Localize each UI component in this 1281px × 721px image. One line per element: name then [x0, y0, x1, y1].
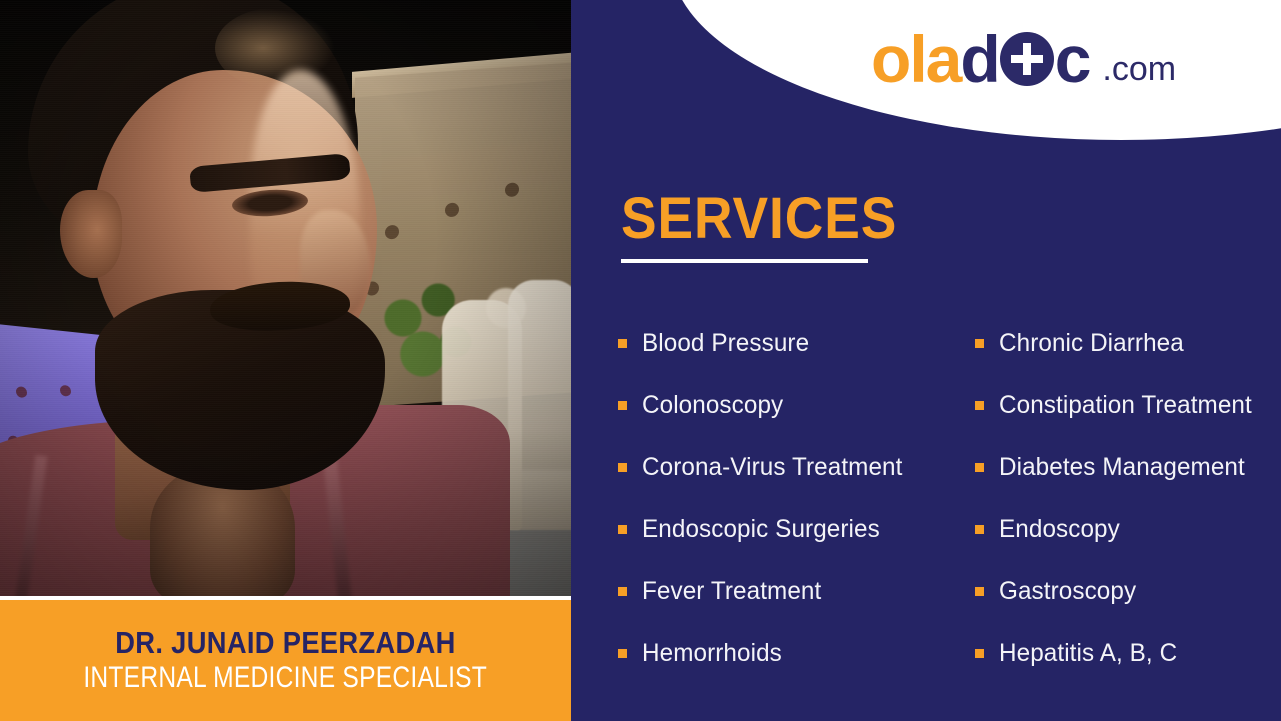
logo-text-d: d — [960, 26, 998, 92]
bullet-square-icon — [975, 339, 984, 348]
service-label: Fever Treatment — [642, 577, 821, 606]
doctor-specialty: INTERNAL MEDICINE SPECIALIST — [84, 661, 488, 694]
services-heading-underline — [621, 259, 868, 263]
list-item[interactable]: Constipation Treatment — [975, 374, 1281, 436]
service-label: Corona-Virus Treatment — [642, 453, 902, 482]
list-item[interactable]: Endoscopic Surgeries — [618, 498, 926, 560]
bullet-square-icon — [975, 463, 984, 472]
bullet-square-icon — [618, 339, 627, 348]
list-item[interactable]: Hemorrhoids — [618, 622, 926, 684]
list-item[interactable]: Blood Pressure — [618, 312, 926, 374]
logo-text-ola: ola — [871, 26, 960, 92]
service-label: Constipation Treatment — [999, 391, 1252, 420]
list-item[interactable]: Diabetes Management — [975, 436, 1281, 498]
service-label: Colonoscopy — [642, 391, 783, 420]
services-column-left: Blood Pressure Colonoscopy Corona-Virus … — [571, 312, 926, 684]
services-panel: ola d c .com SERVICES Blood Pressure Col… — [571, 0, 1281, 721]
list-item[interactable]: Chronic Diarrhea — [975, 312, 1281, 374]
bullet-square-icon — [618, 525, 627, 534]
bullet-square-icon — [618, 401, 627, 410]
list-item[interactable]: Fever Treatment — [618, 560, 926, 622]
services-heading: SERVICES — [621, 190, 897, 248]
bullet-square-icon — [975, 649, 984, 658]
bullet-square-icon — [618, 649, 627, 658]
plus-horizontal — [1011, 55, 1043, 63]
service-label: Chronic Diarrhea — [999, 329, 1184, 358]
bullet-square-icon — [618, 463, 627, 472]
doctor-name: DR. JUNAID PEERZADAH — [115, 627, 455, 660]
list-item[interactable]: Hepatitis A, B, C — [975, 622, 1281, 684]
oladoc-logo[interactable]: ola d c .com — [871, 26, 1176, 92]
doctor-services-card: DR. JUNAID PEERZADAH INTERNAL MEDICINE S… — [0, 0, 1281, 721]
service-label: Diabetes Management — [999, 453, 1245, 482]
services-column-right: Chronic Diarrhea Constipation Treatment … — [926, 312, 1281, 684]
service-label: Hemorrhoids — [642, 639, 782, 668]
service-label: Gastroscopy — [999, 577, 1136, 606]
logo-text-c: c — [1055, 26, 1090, 92]
bullet-square-icon — [975, 525, 984, 534]
bullet-square-icon — [975, 587, 984, 596]
doctor-photo — [0, 0, 571, 598]
service-label: Endoscopic Surgeries — [642, 515, 880, 544]
bullet-square-icon — [975, 401, 984, 410]
logo-text-com: .com — [1102, 52, 1176, 92]
plus-in-circle-icon — [1000, 32, 1054, 86]
list-item[interactable]: Colonoscopy — [618, 374, 926, 436]
photo-grain — [0, 0, 571, 598]
service-label: Endoscopy — [999, 515, 1120, 544]
service-label: Blood Pressure — [642, 329, 809, 358]
doctor-name-bar: DR. JUNAID PEERZADAH INTERNAL MEDICINE S… — [0, 600, 571, 721]
list-item[interactable]: Gastroscopy — [975, 560, 1281, 622]
services-list: Blood Pressure Colonoscopy Corona-Virus … — [571, 312, 1281, 684]
service-label: Hepatitis A, B, C — [999, 639, 1177, 668]
bullet-square-icon — [618, 587, 627, 596]
list-item[interactable]: Corona-Virus Treatment — [618, 436, 926, 498]
list-item[interactable]: Endoscopy — [975, 498, 1281, 560]
